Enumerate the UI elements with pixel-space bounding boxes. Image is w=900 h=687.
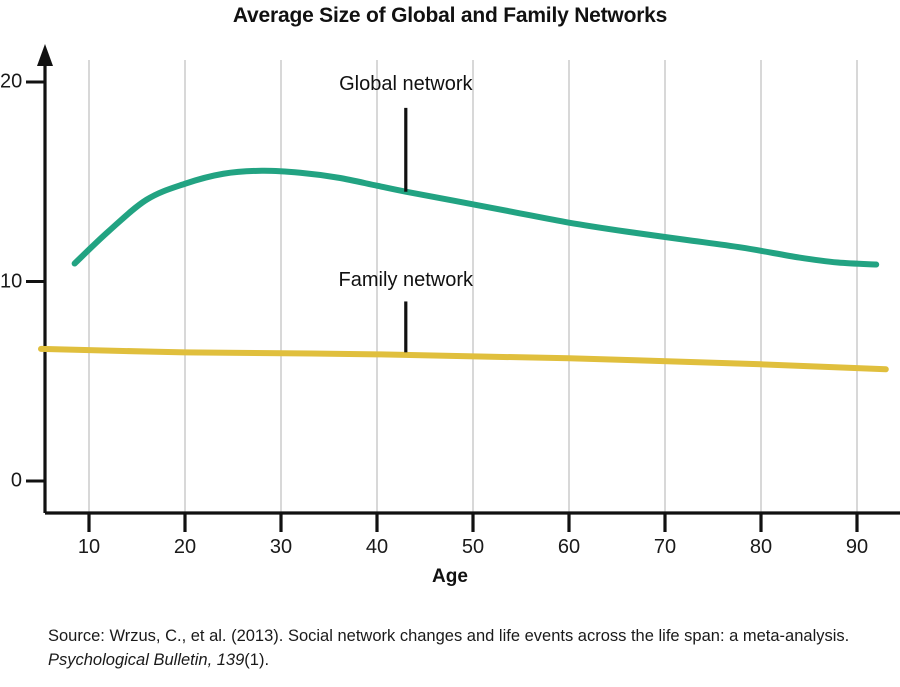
y-tick-label: 10 [0, 270, 22, 293]
y-axis-arrow-icon [37, 44, 53, 66]
series-line [75, 171, 877, 265]
series-line [41, 349, 886, 369]
x-tick-label: 50 [462, 536, 484, 559]
y-tick-marks-group [26, 82, 45, 481]
y-tick-label: 20 [0, 71, 22, 94]
series-label: Global network [339, 73, 472, 96]
chart-figure: Average Size of Global and Family Networ… [0, 0, 900, 687]
x-tick-marks-group [89, 513, 857, 532]
source-suffix: (1). [244, 651, 269, 669]
x-tick-label: 90 [846, 536, 868, 559]
x-tick-label: 80 [750, 536, 772, 559]
x-tick-label: 40 [366, 536, 388, 559]
y-tick-label: 0 [0, 470, 22, 493]
source-journal: Psychological Bulletin, 139 [48, 651, 244, 669]
x-tick-label: 10 [78, 536, 100, 559]
x-tick-label: 60 [558, 536, 580, 559]
source-prefix: Source: Wrzus, C., et al. (2013). Social… [48, 627, 849, 645]
source-note: Source: Wrzus, C., et al. (2013). Social… [48, 624, 868, 673]
x-tick-label: 30 [270, 536, 292, 559]
x-tick-label: 70 [654, 536, 676, 559]
x-tick-label: 20 [174, 536, 196, 559]
series-label: Family network [339, 269, 473, 292]
x-axis-title: Age [0, 566, 900, 588]
